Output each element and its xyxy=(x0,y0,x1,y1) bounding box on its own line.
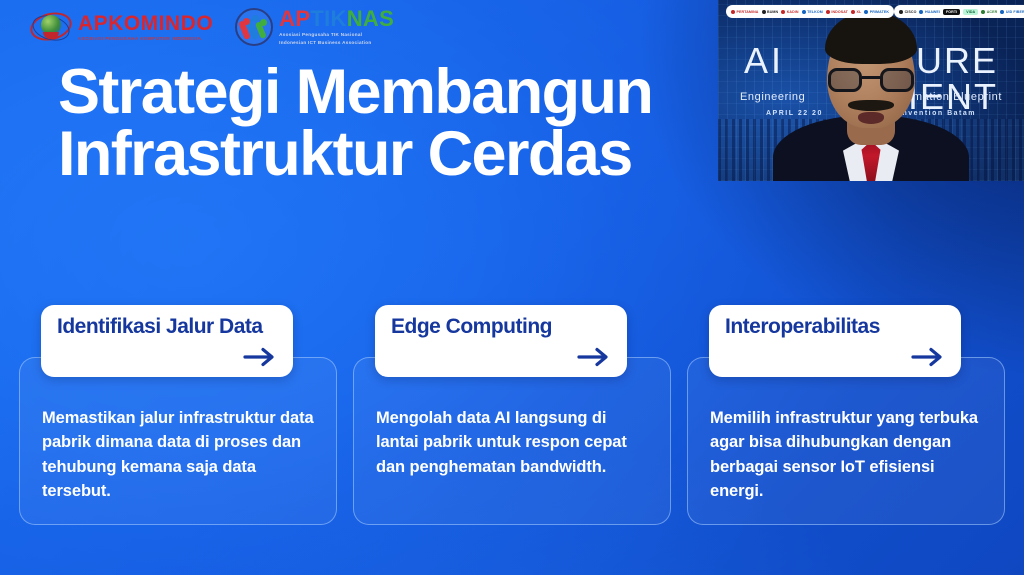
card-body: Memilih infrastruktur yang terbuka agar … xyxy=(687,357,1005,525)
sponsor-pill-right: CISCO HUAWEI FORTI VIDA ACER UID FIBER xyxy=(894,5,1024,18)
sponsor-logo: BUMN xyxy=(762,10,779,14)
speaker-mustache xyxy=(848,100,894,111)
sponsor-logo: VIDA xyxy=(963,9,978,15)
sponsor-logo: HUAWEI xyxy=(919,10,939,14)
aptiknas-tagline-1: Asosiasi Pengusaha TIK Nasional xyxy=(279,33,394,38)
sponsor-logo: KADIN xyxy=(781,10,798,14)
sponsor-logo: UID FIBER xyxy=(1000,10,1024,14)
speaker-mouth xyxy=(858,112,884,124)
sponsor-logo: CISCO xyxy=(899,10,916,14)
speaker-hair xyxy=(825,12,917,64)
card-header[interactable]: Interoperabilitas xyxy=(709,305,961,377)
sponsor-logo: PRIMATEK xyxy=(864,10,889,14)
sponsor-logo: ACER xyxy=(981,10,997,14)
card-header[interactable]: Edge Computing xyxy=(375,305,627,377)
card-title: Edge Computing xyxy=(391,316,611,339)
video-conference-panel[interactable]: AI SECURE IENT Engineering formation Blu… xyxy=(718,0,1024,181)
aptiknas-circle-icon xyxy=(235,8,273,46)
strategy-card-identifikasi-jalur-data[interactable]: Memastikan jalur infrastruktur data pabr… xyxy=(19,305,337,525)
slide-title-line-1: Strategi Membangun xyxy=(58,57,652,127)
aptiknas-wordmark: APTIKNAS xyxy=(279,8,394,30)
aptiknas-tagline-2: Indonesian ICT Business Association xyxy=(279,41,394,46)
card-body: Mengolah data AI langsung di lantai pabr… xyxy=(353,357,671,525)
slide-title: Strategi Membangun Infrastruktur Cerdas xyxy=(58,62,718,185)
sponsor-pill-left: PERTAMINA BUMN KADIN TELKOM INDOSAT XL P… xyxy=(726,5,894,18)
card-title: Interoperabilitas xyxy=(725,316,945,339)
strategy-card-interoperabilitas[interactable]: Memilih infrastruktur yang terbuka agar … xyxy=(687,305,1005,525)
strategy-card-edge-computing[interactable]: Mengolah data AI langsung di lantai pabr… xyxy=(353,305,671,525)
card-description: Memilih infrastruktur yang terbuka agar … xyxy=(710,406,982,504)
apkomindo-logo: APKOMINDO ASOSIASI PENGUSAHA KOMPUTER IN… xyxy=(30,9,213,45)
speaker-video-feed xyxy=(718,0,1024,181)
strategy-card-list: Memastikan jalur infrastruktur data pabr… xyxy=(0,305,1024,525)
aptiknas-word-ap: AP xyxy=(279,6,310,31)
arrow-right-icon[interactable] xyxy=(577,347,611,367)
arrow-right-icon[interactable] xyxy=(911,347,945,367)
aptiknas-word-nas: NAS xyxy=(347,6,394,31)
presentation-slide: APKOMINDO ASOSIASI PENGUSAHA KOMPUTER IN… xyxy=(0,0,1024,575)
card-title: Identifikasi Jalur Data xyxy=(57,316,277,339)
sponsor-logo: TELKOM xyxy=(802,10,823,14)
card-description: Memastikan jalur infrastruktur data pabr… xyxy=(42,406,314,504)
aptiknas-word-tik: TIK xyxy=(310,6,346,31)
sponsor-logo: XL xyxy=(851,10,861,14)
logo-bar: APKOMINDO ASOSIASI PENGUSAHA KOMPUTER IN… xyxy=(30,8,394,46)
aptiknas-logo: APTIKNAS Asosiasi Pengusaha TIK Nasional… xyxy=(235,8,394,46)
apkomindo-globe-icon xyxy=(30,9,72,45)
sponsor-logo-row: PERTAMINA BUMN KADIN TELKOM INDOSAT XL P… xyxy=(718,5,1024,18)
speaker-glasses-icon xyxy=(828,68,914,92)
card-header[interactable]: Identifikasi Jalur Data xyxy=(41,305,293,377)
sponsor-logo: INDOSAT xyxy=(826,10,848,14)
card-body: Memastikan jalur infrastruktur data pabr… xyxy=(19,357,337,525)
arrow-right-icon[interactable] xyxy=(243,347,277,367)
apkomindo-tagline: ASOSIASI PENGUSAHA KOMPUTER INDONESIA xyxy=(78,37,213,42)
apkomindo-wordmark: APKOMINDO xyxy=(78,13,213,34)
sponsor-logo: FORTI xyxy=(943,9,960,15)
slide-title-line-2: Infrastruktur Cerdas xyxy=(58,124,718,186)
card-description: Mengolah data AI langsung di lantai pabr… xyxy=(376,406,648,479)
sponsor-logo: PERTAMINA xyxy=(731,10,759,14)
